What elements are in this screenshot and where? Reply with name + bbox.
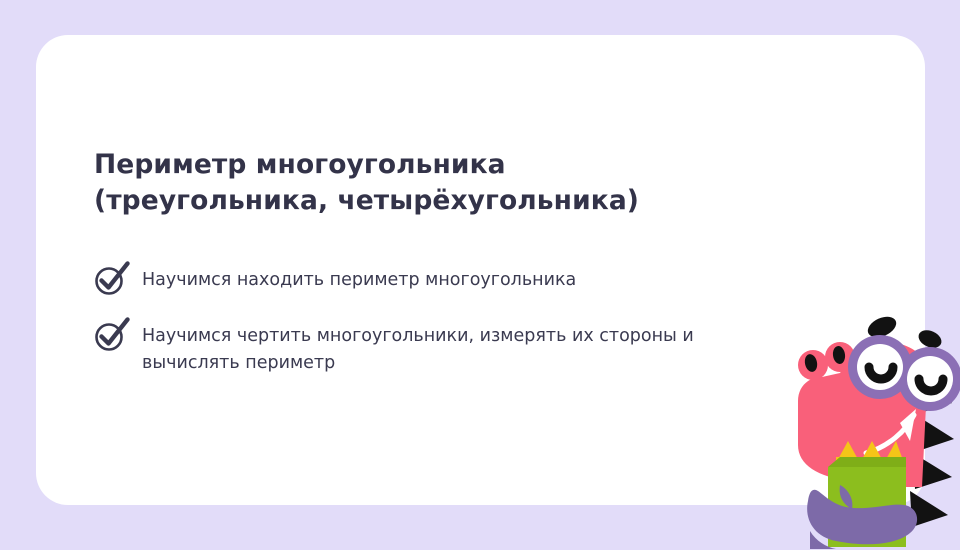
list-item: Научимся чертить многоугольники, измерят…	[92, 319, 792, 377]
list-item: Научимся находить периметр многоугольник…	[92, 263, 792, 297]
objective-text: Научимся находить периметр многоугольник…	[142, 263, 576, 294]
page-title: Периметр многоугольника (треугольника, ч…	[94, 147, 794, 219]
check-circle-icon	[92, 259, 132, 297]
objectives-list: Научимся находить периметр многоугольник…	[92, 263, 792, 399]
objective-text: Научимся чертить многоугольники, измерят…	[142, 319, 742, 377]
content-card: Периметр многоугольника (треугольника, ч…	[36, 35, 925, 505]
page-title-line-2: (треугольника, четырёхугольника)	[94, 183, 794, 219]
page-title-line-1: Периметр многоугольника	[94, 147, 794, 183]
check-circle-icon	[92, 315, 132, 353]
slide-root: Периметр многоугольника (треугольника, ч…	[0, 0, 960, 540]
